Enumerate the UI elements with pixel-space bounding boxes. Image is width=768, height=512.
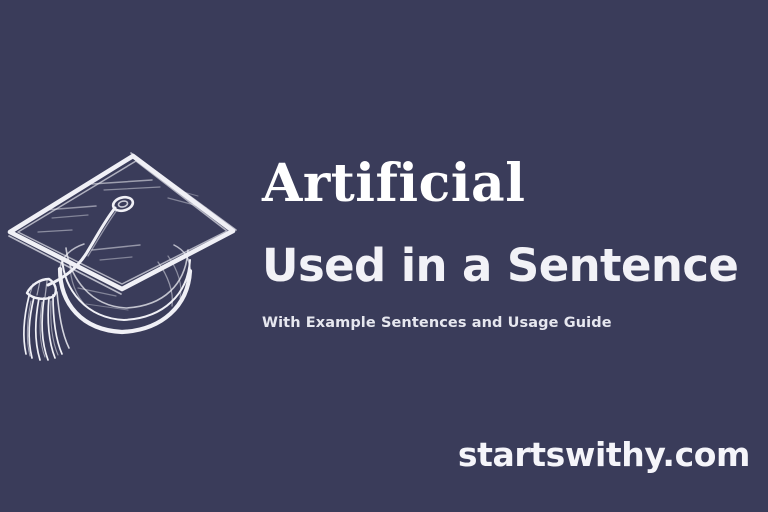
keyword-title: Artificial xyxy=(262,158,754,210)
brand-watermark: startswithy.com xyxy=(458,438,750,471)
poster-canvas: Artificial Used in a Sentence With Examp… xyxy=(0,0,768,512)
graduation-cap-illustration xyxy=(0,138,250,373)
page-title: Used in a Sentence xyxy=(262,210,754,288)
hero-text-block: Artificial Used in a Sentence With Examp… xyxy=(262,158,754,332)
page-subtitle: With Example Sentences and Usage Guide xyxy=(262,288,754,332)
